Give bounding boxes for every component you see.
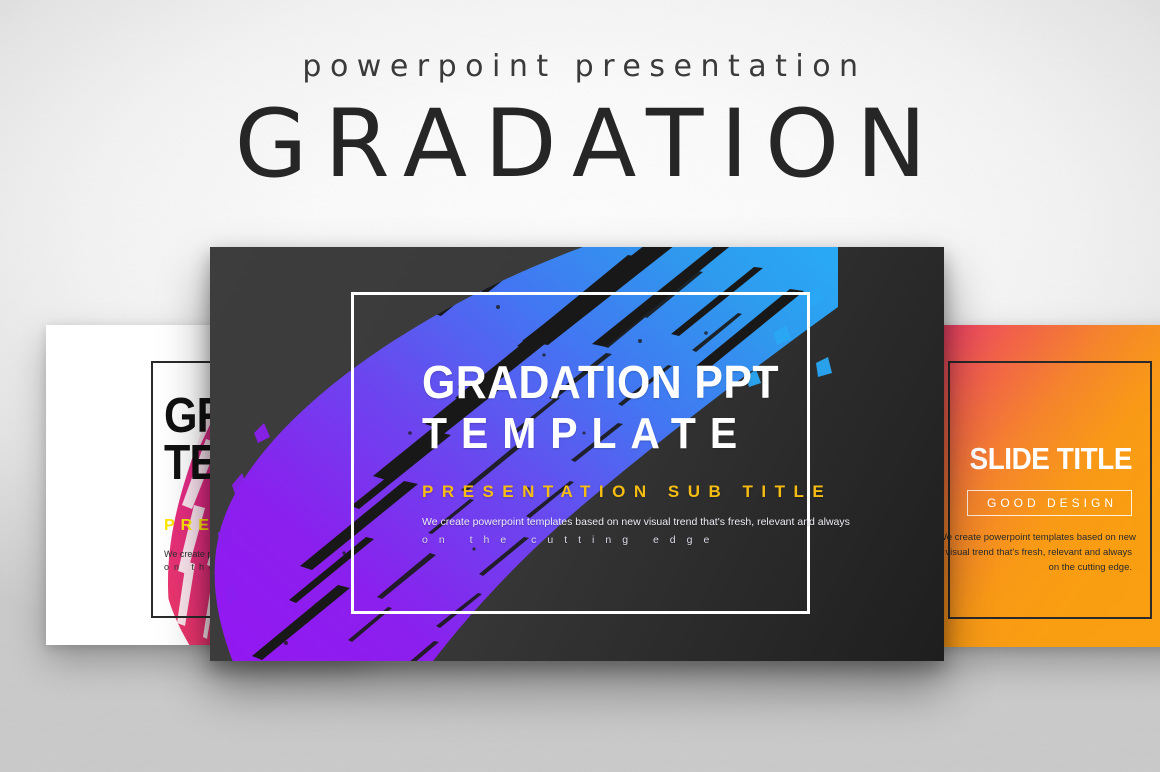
- right-slide-title: SLIDE TITLE: [957, 443, 1132, 474]
- center-slide-title-line2: TEMPLATE: [422, 412, 822, 456]
- center-slide-subtitle: PRESENTATION SUB TITLE: [422, 482, 852, 502]
- page-title-block: powerpoint presentation GRADATION: [0, 52, 1160, 195]
- slide-thumbnail-right[interactable]: SLIDE TITLE GOOD DESIGN We create powerp…: [938, 325, 1160, 647]
- presentation-mockup-stage: powerpoint presentation GRADATION: [0, 0, 1160, 772]
- right-slide-body-line2: visual trend that's fresh, relevant and …: [938, 545, 1132, 560]
- right-slide-content: SLIDE TITLE GOOD DESIGN We create powerp…: [938, 443, 1132, 576]
- center-slide-content: GRADATION PPT TEMPLATE PRESENTATION SUB …: [422, 360, 852, 546]
- center-slide-title-line1: GRADATION PPT: [422, 360, 822, 405]
- page-eyebrow: powerpoint presentation: [0, 52, 1160, 82]
- right-slide-body-line1: We create powerpoint templates based on …: [938, 530, 1132, 545]
- center-slide-body-line2: on the cutting edge: [422, 534, 852, 546]
- page-title: GRADATION: [0, 96, 1160, 195]
- slide-main-center[interactable]: GRADATION PPT TEMPLATE PRESENTATION SUB …: [210, 247, 944, 661]
- center-slide-body-line1: We create powerpoint templates based on …: [422, 515, 852, 531]
- right-slide-badge: GOOD DESIGN: [967, 490, 1132, 516]
- right-slide-body-line3: on the cutting edge.: [938, 560, 1132, 575]
